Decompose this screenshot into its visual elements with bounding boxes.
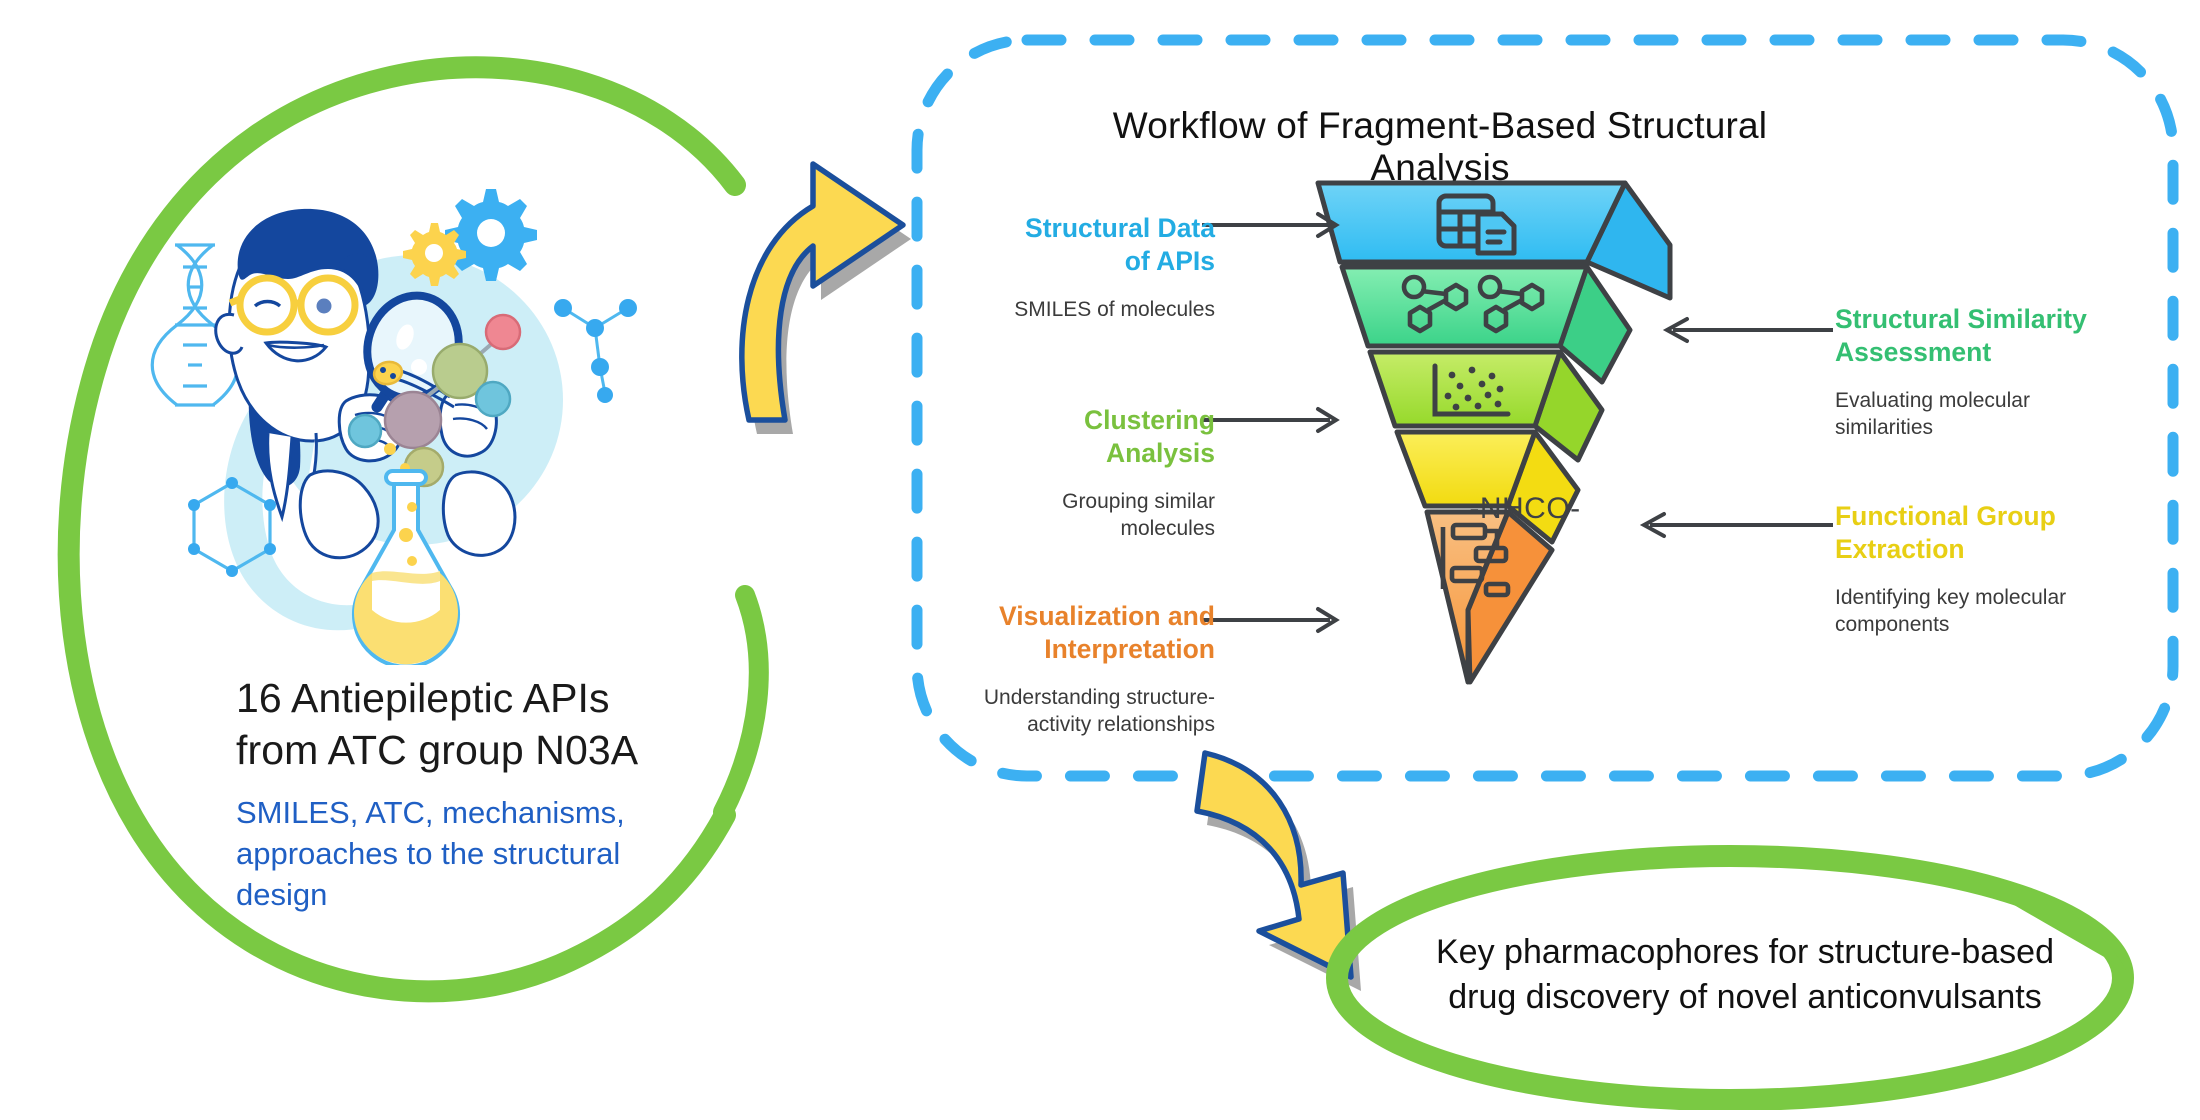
atom-cyan	[476, 382, 510, 416]
funnel-label-stage-4: Functional Group Extraction Identifying …	[1835, 500, 2105, 638]
connector-arrow-stage-4	[1630, 505, 1835, 545]
scientist-illustration	[150, 175, 660, 665]
funnel-label-stage-1: Structural Data of APIs SMILES of molecu…	[1000, 212, 1215, 323]
funnel-label-stage-2-desc: Evaluating molecular similarities	[1835, 387, 2105, 442]
funnel-label-stage-2-head: Structural Similarity Assessment	[1835, 303, 2105, 370]
atom-pink	[486, 315, 520, 349]
connector-arrow-stage-1	[1200, 205, 1360, 245]
connector-arrow-stage-2	[1655, 310, 1835, 350]
curved-arrow-up-right	[735, 150, 995, 440]
connector-arrow-stage-5	[1200, 600, 1360, 640]
funnel-label-stage-3: Clustering Analysis Grouping similar mol…	[1000, 404, 1215, 542]
funnel-label-stage-3-desc: Grouping similar molecules	[1000, 488, 1215, 543]
funnel-label-stage-5-head: Visualization and Interpretation	[975, 600, 1215, 667]
funnel-label-stage-1-desc: SMILES of molecules	[1000, 296, 1215, 323]
left-panel-subtitle: SMILES, ATC, mechanisms, approaches to t…	[236, 792, 646, 916]
connector-arrow-stage-3	[1200, 400, 1360, 440]
atom-cyan-2	[349, 415, 381, 447]
funnel-label-stage-3-head: Clustering Analysis	[1000, 404, 1215, 471]
outcome-text: Key pharmacophores for structure-based d…	[1395, 930, 2095, 1020]
atom-mauve	[385, 392, 441, 448]
funnel-label-stage-4-head: Functional Group Extraction	[1835, 500, 2105, 567]
molecule-nodes-right	[554, 299, 637, 403]
fragment-analysis-funnel	[1290, 170, 1750, 790]
funnel-label-stage-4-desc: Identifying key molecular components	[1835, 584, 2105, 639]
funnel-label-stage-5: Visualization and Interpretation Underst…	[975, 600, 1215, 738]
diagram-canvas: 16 Antiepileptic APIs from ATC group N03…	[0, 0, 2200, 1120]
funnel-label-stage-5-desc: Understanding structure-activity relatio…	[975, 684, 1215, 739]
funnel-stage-4-icon-nhco: -NHCO-	[1455, 492, 1595, 526]
funnel-label-stage-1-head: Structural Data of APIs	[1000, 212, 1215, 279]
left-panel-title: 16 Antiepileptic APIs from ATC group N03…	[236, 672, 706, 777]
funnel-label-stage-2: Structural Similarity Assessment Evaluat…	[1835, 303, 2105, 441]
